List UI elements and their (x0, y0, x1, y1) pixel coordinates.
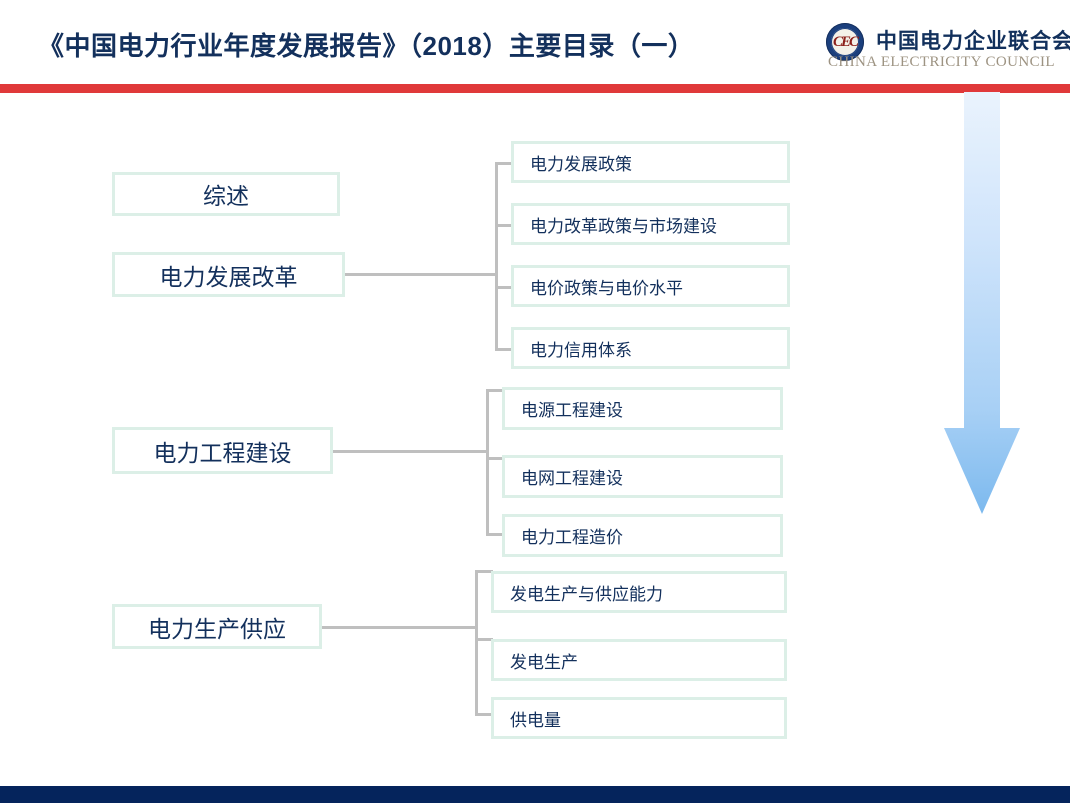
child-node-label: 供电量 (510, 706, 561, 731)
child-node-label: 发电生产与供应能力 (510, 580, 663, 605)
down-arrow-icon (944, 92, 1020, 514)
connector-trunk-3 (475, 570, 478, 716)
primary-node-dianli-gongcheng-jianshe[interactable]: 电力工程建设 (112, 427, 333, 474)
connector-parent-3 (322, 626, 477, 629)
child-node-dianwang-gongcheng-jianshe[interactable]: 电网工程建设 (502, 455, 783, 498)
connector-trunk-1 (495, 162, 498, 349)
organization-logo: CEC 中国电力企业联合会 CHINA ELECTRICITY COUNCIL (826, 20, 1064, 78)
primary-node-label: 电力发展改革 (160, 258, 298, 292)
connector-trunk-2 (486, 389, 489, 536)
footer-bar (0, 786, 1070, 803)
primary-node-dianli-shengchan-gongying[interactable]: 电力生产供应 (112, 604, 322, 649)
child-node-label: 电力信用体系 (530, 336, 632, 361)
child-node-label: 电力发展政策 (530, 150, 632, 175)
logo-name-cn: 中国电力企业联合会 (876, 25, 1070, 55)
primary-node-dianli-fazhan-gaige[interactable]: 电力发展改革 (112, 252, 345, 297)
child-node-label: 电源工程建设 (521, 396, 623, 421)
child-node-fadian-shengchan[interactable]: 发电生产 (491, 639, 787, 681)
child-node-label: 电网工程建设 (521, 464, 623, 489)
page-header: 《中国电力行业年度发展报告》（2018）主要目录（一） CEC 中国电力企业联合… (0, 0, 1070, 84)
child-node-dianli-fazhan-zhengce[interactable]: 电力发展政策 (511, 141, 790, 183)
child-node-dianjia-zhengce[interactable]: 电价政策与电价水平 (511, 265, 790, 307)
connector-parent-1 (345, 273, 498, 276)
child-node-dianli-gaige-zhengce[interactable]: 电力改革政策与市场建设 (511, 203, 790, 245)
header-red-rule (0, 84, 1070, 93)
child-node-label: 发电生产 (510, 648, 578, 673)
toc-diagram: 综述 电力发展改革 电力工程建设 电力生产供应 电力发展政策 电力改革政策与市场… (0, 93, 1070, 786)
connector-parent-2 (333, 450, 488, 453)
child-node-dianli-xinyong-tixi[interactable]: 电力信用体系 (511, 327, 790, 369)
child-node-label: 电价政策与电价水平 (530, 274, 683, 299)
child-node-label: 电力工程造价 (521, 523, 623, 548)
child-node-dianli-gongcheng-zaojia[interactable]: 电力工程造价 (502, 514, 783, 557)
page-title: 《中国电力行业年度发展报告》（2018）主要目录（一） (38, 26, 694, 63)
child-node-fadian-shengchan-gongying-nengli[interactable]: 发电生产与供应能力 (491, 571, 787, 613)
logo-name-en: CHINA ELECTRICITY COUNCIL (828, 54, 1055, 71)
primary-node-zongshu[interactable]: 综述 (112, 172, 340, 216)
child-node-gongdianliang[interactable]: 供电量 (491, 697, 787, 739)
child-node-dianyuan-gongcheng-jianshe[interactable]: 电源工程建设 (502, 387, 783, 430)
child-node-label: 电力改革政策与市场建设 (530, 212, 717, 237)
primary-node-label: 电力生产供应 (148, 610, 286, 644)
primary-node-label: 电力工程建设 (154, 434, 292, 468)
primary-node-label: 综述 (203, 177, 249, 211)
